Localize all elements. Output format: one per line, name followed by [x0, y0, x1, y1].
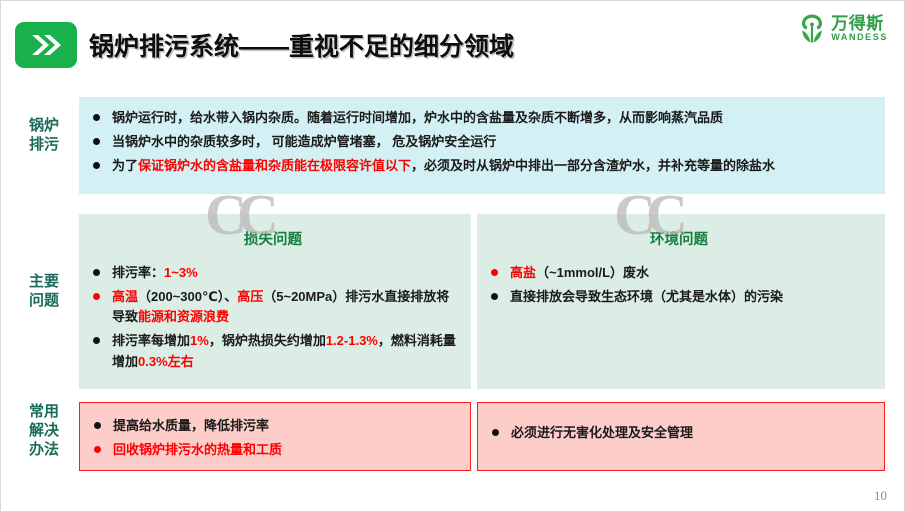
- bullet-dot-icon: [491, 269, 498, 276]
- bullet-text-run: 为了: [112, 158, 138, 173]
- row-label-line: 锅炉: [15, 117, 73, 136]
- bullet-list: 必须进行无害化处理及安全管理: [488, 423, 870, 443]
- bullet-dot-icon: [93, 162, 100, 169]
- bullet-item: 回收锅炉排污水的热量和工质: [90, 440, 456, 460]
- panel-title-loss: 损失问题: [89, 228, 457, 249]
- bullet-dot-icon: [93, 114, 100, 121]
- row-label-line: 常用: [15, 403, 73, 422]
- bullet-text-run: 高温: [112, 289, 138, 304]
- bullet-text-run: ，必须及时从锅炉中排出一部分含渣炉水，并补充等量的除盐水: [411, 158, 775, 173]
- row-label-common-solutions: 常用 解决 办法: [15, 403, 73, 459]
- row-label-line: 主要: [15, 273, 73, 292]
- bullet-list: 排污率：1~3%高温（200~300℃）、高压（5~20MPa）排污水直接排放将…: [89, 263, 457, 372]
- bullet-text-run: ，锅炉热损失约增加: [209, 333, 326, 348]
- bullet-dot-icon: [93, 138, 100, 145]
- bullet-dot-icon: [491, 293, 498, 300]
- page-title: 锅炉排污系统——重视不足的细分领域: [89, 27, 514, 63]
- slide-canvas: 锅炉排污系统——重视不足的细分领域 万得斯 WANDESS CC CC 锅炉 排…: [0, 0, 905, 512]
- bullet-text-run: 提高给水质量，降低排污率: [113, 418, 269, 433]
- bullet-text-run: 1~3%: [164, 265, 198, 280]
- bullet-text-run: 0.3%左右: [138, 354, 194, 369]
- bullet-text-run: 能源和资源浪费: [138, 309, 229, 324]
- panel-environment-problems: 环境问题 高盐（~1mmol/L）废水直接排放会导致生态环境（尤其是水体）的污染: [477, 214, 885, 389]
- bullet-text-run: 锅炉运行时，给水带入锅内杂质。随着运行时间增加，炉水中的含盐量及杂质不断增多，从…: [112, 110, 723, 125]
- logo-en-text: WANDESS: [831, 33, 888, 42]
- row-label-line: 解决: [15, 422, 73, 441]
- bullet-item: 提高给水质量，降低排污率: [90, 416, 456, 436]
- wandess-leaf-logo-icon: [797, 13, 827, 44]
- row-label-line: 办法: [15, 441, 73, 460]
- double-chevron-right-icon: [29, 33, 63, 57]
- bullet-item: 必须进行无害化处理及安全管理: [488, 423, 870, 443]
- row-label-line: 问题: [15, 292, 73, 311]
- page-number: 10: [874, 488, 887, 504]
- row-label-line: 排污: [15, 136, 73, 155]
- bullet-item: 高温（200~300℃）、高压（5~20MPa）排污水直接排放将导致能源和资源浪…: [89, 287, 457, 327]
- panel-boiler-blowdown: 锅炉运行时，给水带入锅内杂质。随着运行时间增加，炉水中的含盐量及杂质不断增多，从…: [79, 97, 885, 194]
- bullet-text-run: 直接排放会导致生态环境（尤其是水体）的污染: [510, 289, 783, 304]
- bullet-text-run: 排污率：: [112, 265, 164, 280]
- bullet-dot-icon: [93, 337, 100, 344]
- bullet-text-run: 回收锅炉排污水的热量和工质: [113, 442, 282, 457]
- brand-logo: 万得斯 WANDESS: [797, 13, 888, 44]
- bullet-list: 高盐（~1mmol/L）废水直接排放会导致生态环境（尤其是水体）的污染: [487, 263, 871, 307]
- bullet-text-run: 1.2-1.3%: [326, 333, 378, 348]
- bullet-item: 为了保证锅炉水的含盐量和杂质能在极限容许值以下，必须及时从锅炉中排出一部分含渣炉…: [89, 156, 869, 176]
- panel-loss-problems: 损失问题 排污率：1~3%高温（200~300℃）、高压（5~20MPa）排污水…: [79, 214, 471, 389]
- bullet-item: 排污率：1~3%: [89, 263, 457, 283]
- bullet-text-run: 排污率每增加: [112, 333, 190, 348]
- bullet-text-run: 必须进行无害化处理及安全管理: [511, 425, 693, 440]
- bullet-text-run: （200~300℃）、: [138, 289, 237, 304]
- bullet-text-run: 保证锅炉水的含盐量和杂质能在极限容许值以下: [138, 158, 411, 173]
- panel-title-environment: 环境问题: [487, 228, 871, 249]
- bullet-dot-icon: [94, 446, 101, 453]
- bullet-dot-icon: [93, 269, 100, 276]
- slide-badge: [15, 22, 77, 68]
- row-label-main-problems: 主要 问题: [15, 273, 73, 311]
- bullet-dot-icon: [492, 429, 499, 436]
- bullet-text-run: 高盐: [510, 265, 536, 280]
- bullet-list: 锅炉运行时，给水带入锅内杂质。随着运行时间增加，炉水中的含盐量及杂质不断增多，从…: [89, 108, 869, 176]
- bullet-text-run: （~1mmol/L）废水: [536, 265, 649, 280]
- bullet-text-run: 高压: [237, 289, 263, 304]
- bullet-text-run: 当锅炉水中的杂质较多时， 可能造成炉管堵塞， 危及锅炉安全运行: [112, 134, 496, 149]
- row-label-boiler-blowdown: 锅炉 排污: [15, 117, 73, 155]
- bullet-list: 提高给水质量，降低排污率回收锅炉排污水的热量和工质: [90, 416, 456, 460]
- bullet-dot-icon: [93, 293, 100, 300]
- bullet-item: 当锅炉水中的杂质较多时， 可能造成炉管堵塞， 危及锅炉安全运行: [89, 132, 869, 152]
- bullet-dot-icon: [94, 422, 101, 429]
- bullet-item: 排污率每增加1%，锅炉热损失约增加1.2-1.3%，燃料消耗量增加0.3%左右: [89, 331, 457, 371]
- bullet-item: 直接排放会导致生态环境（尤其是水体）的污染: [487, 287, 871, 307]
- bullet-item: 锅炉运行时，给水带入锅内杂质。随着运行时间增加，炉水中的含盐量及杂质不断增多，从…: [89, 108, 869, 128]
- panel-solutions-right: 必须进行无害化处理及安全管理: [477, 402, 885, 471]
- bullet-item: 高盐（~1mmol/L）废水: [487, 263, 871, 283]
- logo-cn-text: 万得斯: [831, 15, 888, 32]
- bullet-text-run: 1%: [190, 333, 209, 348]
- panel-solutions-left: 提高给水质量，降低排污率回收锅炉排污水的热量和工质: [79, 402, 471, 471]
